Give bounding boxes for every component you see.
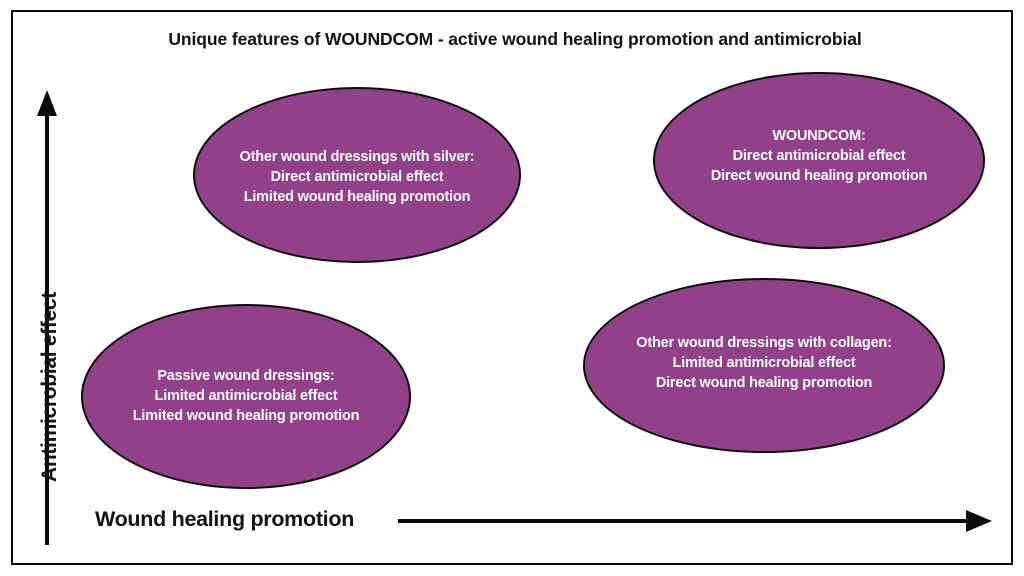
bubble-woundcom[interactable]: WOUNDCOM: Direct antimicrobial effect Di…	[653, 72, 985, 249]
page-title: Unique features of WOUNDCOM - active wou…	[60, 28, 970, 50]
bubble-text: WOUNDCOM: Direct antimicrobial effect Di…	[703, 126, 935, 186]
bubble-passive-dressings[interactable]: Passive wound dressings: Limited antimic…	[81, 304, 411, 489]
diagram-canvas: Unique features of WOUNDCOM - active wou…	[0, 0, 1024, 576]
bubble-other-dressings-silver[interactable]: Other wound dressings with silver: Direc…	[193, 87, 521, 263]
bubble-other-dressings-collagen[interactable]: Other wound dressings with collagen: Lim…	[583, 278, 945, 453]
bubble-text: Passive wound dressings: Limited antimic…	[125, 366, 368, 426]
x-axis-label: Wound healing promotion	[95, 507, 354, 532]
bubble-text: Other wound dressings with collagen: Lim…	[628, 333, 899, 393]
bubble-text: Other wound dressings with silver: Direc…	[232, 147, 483, 207]
y-axis-label: Antimicrobial effect	[38, 257, 62, 517]
